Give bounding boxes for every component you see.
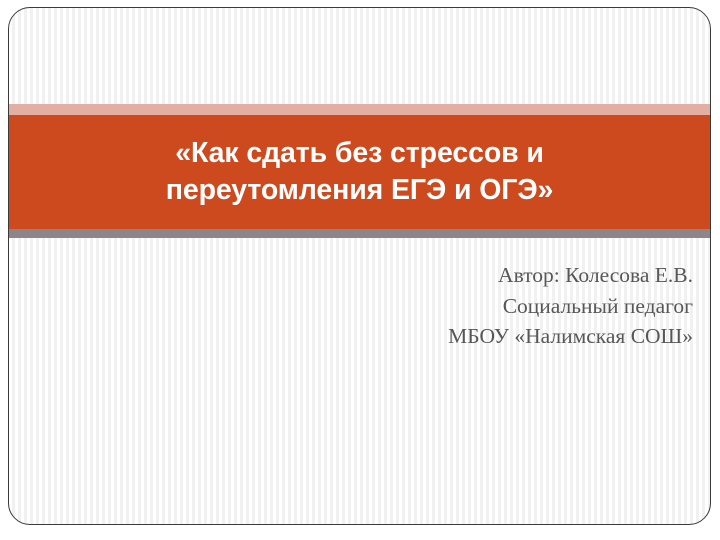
author-block: Автор: Колесова Е.В. Социальный педагог … [49,260,693,352]
slide-canvas: «Как сдать без стрессов и переутомления … [8,7,711,525]
author-name: Автор: Колесова Е.В. [49,260,693,291]
slide-title: «Как сдать без стрессов и переутомления … [140,135,580,209]
author-role: Социальный педагог [49,291,693,322]
banner-bottom-rule [9,229,710,238]
banner-top-rule [9,104,710,115]
author-organization: МБОУ «Налимская СОШ» [49,321,693,352]
slide-title-line-2: переутомления ЕГЭ и ОГЭ» [166,174,554,206]
banner-body: «Как сдать без стрессов и переутомления … [9,115,710,229]
presentation-slide: «Как сдать без стрессов и переутомления … [0,0,720,540]
title-banner: «Как сдать без стрессов и переутомления … [9,104,710,238]
slide-title-line-1: «Как сдать без стрессов и [175,137,544,169]
